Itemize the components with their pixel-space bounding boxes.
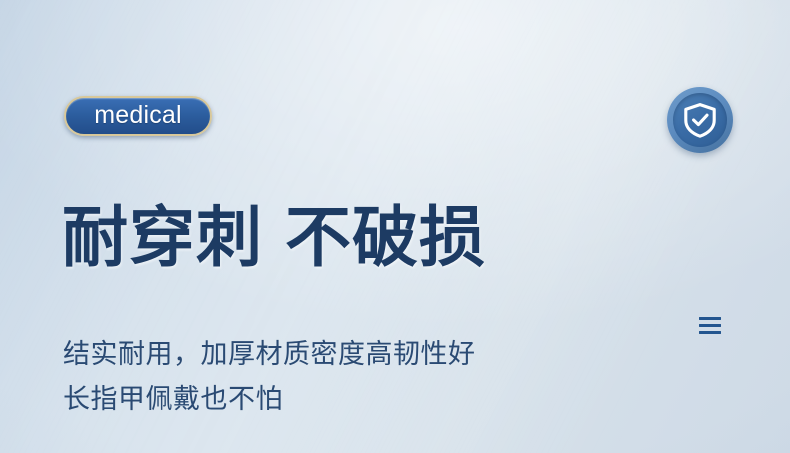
shield-badge (667, 87, 733, 153)
medical-badge: medical (64, 96, 212, 136)
headline: 耐穿刺不破损 (62, 204, 486, 270)
promo-banner: medical 耐穿刺不破损 结实耐用，加厚材质密度高韧性好 长指甲佩戴也不怕 (0, 0, 790, 453)
headline-part-2: 不破损 (285, 200, 486, 274)
subtitle-line-1: 结实耐用，加厚材质密度高韧性好 (63, 332, 476, 377)
menu-bar-bottom (699, 331, 721, 334)
medical-badge-label: medical (94, 103, 182, 130)
menu-bar-top (699, 317, 721, 320)
subtitle: 结实耐用，加厚材质密度高韧性好 长指甲佩戴也不怕 (63, 332, 476, 422)
menu-bar-middle (699, 324, 721, 327)
shield-check-icon (683, 102, 717, 138)
shield-badge-inner-circle (673, 93, 727, 147)
headline-part-1: 耐穿刺 (62, 200, 263, 274)
hamburger-menu-icon[interactable] (699, 317, 721, 334)
subtitle-line-2: 长指甲佩戴也不怕 (63, 377, 476, 422)
